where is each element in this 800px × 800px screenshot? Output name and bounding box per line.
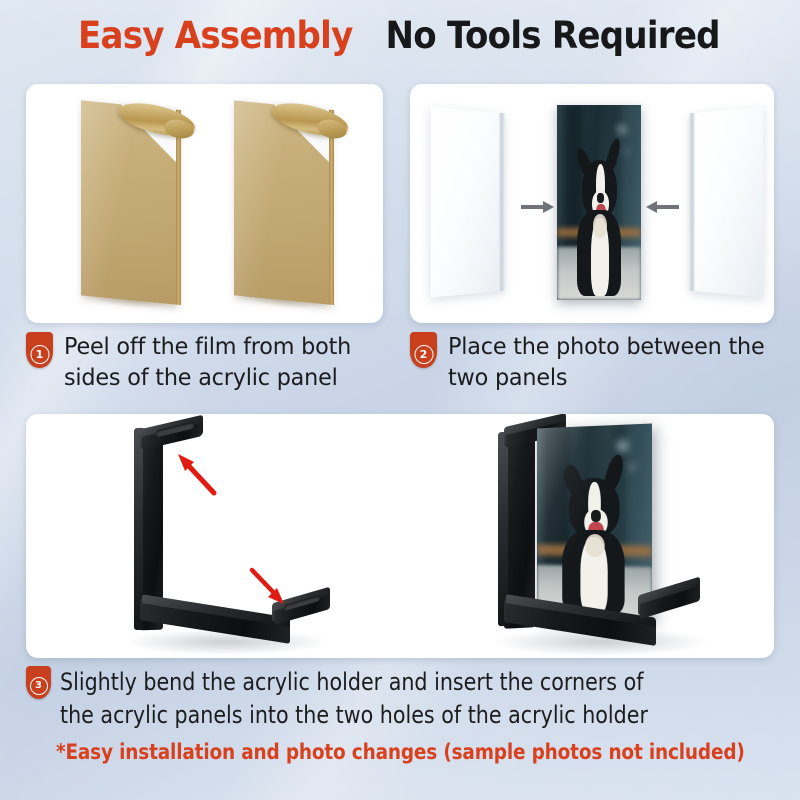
step-3-caption: 3 Slightly bend the acrylic holder and i…: [26, 666, 778, 732]
dog-ruff: [593, 214, 606, 237]
dog-figure: [537, 423, 652, 620]
step-2-text: Place the photo between the two panels: [448, 332, 770, 394]
panel-edge: [689, 113, 694, 291]
step-badge-2: 2: [410, 332, 437, 368]
title-plain-text: No Tools Required: [386, 14, 720, 57]
infographic-page: Easy AssemblyNo Tools Required: [0, 0, 800, 800]
sample-photo: [557, 105, 641, 300]
step-1-caption: 1 Peel off the film from both sides of t…: [26, 332, 386, 394]
footer-note-text: *Easy installation and photo changes (sa…: [56, 740, 745, 764]
photo-content: [557, 105, 641, 300]
panel-edge: [176, 110, 181, 305]
sandwich-scene: [410, 84, 774, 323]
dog-figure: [557, 105, 641, 300]
step-number-1: 1: [30, 345, 49, 364]
step-badge-3: 3: [26, 666, 51, 699]
acrylic-panel-right: [689, 106, 763, 297]
step-number-3: 3: [30, 677, 48, 695]
step-number-2: 2: [414, 345, 433, 364]
arrow-left-icon: [646, 201, 679, 213]
page-title: Easy AssemblyNo Tools Required: [0, 14, 800, 57]
peel-scene: [26, 84, 383, 323]
footer-note: *Easy installation and photo changes (sa…: [0, 740, 800, 764]
panel-edge: [329, 110, 334, 305]
assembled-panel-with-photo: [537, 423, 652, 620]
dog-nose: [597, 193, 604, 203]
step-3-text: Slightly bend the acrylic holder and ins…: [60, 666, 677, 732]
holder-scene: [26, 414, 774, 658]
acrylic-panel-left: [431, 106, 505, 297]
step-2-image-card: [410, 84, 774, 323]
panel-edge: [499, 113, 504, 291]
dog-ruff: [585, 533, 605, 556]
step-2-caption: 2 Place the photo between the two panels: [410, 332, 780, 394]
arrow-right-icon: [521, 201, 554, 213]
step-1-text: Peel off the film from both sides of the…: [64, 332, 376, 394]
title-accent-text: Easy Assembly: [78, 14, 353, 57]
red-arrow-down-icon: [248, 566, 290, 608]
step-badge-1: 1: [26, 332, 53, 368]
photo-content: [537, 423, 652, 620]
red-arrow-up-icon: [174, 452, 220, 498]
dog-nose: [591, 510, 601, 522]
step-3-image-card: [26, 414, 774, 658]
step-1-image-card: [26, 84, 383, 323]
